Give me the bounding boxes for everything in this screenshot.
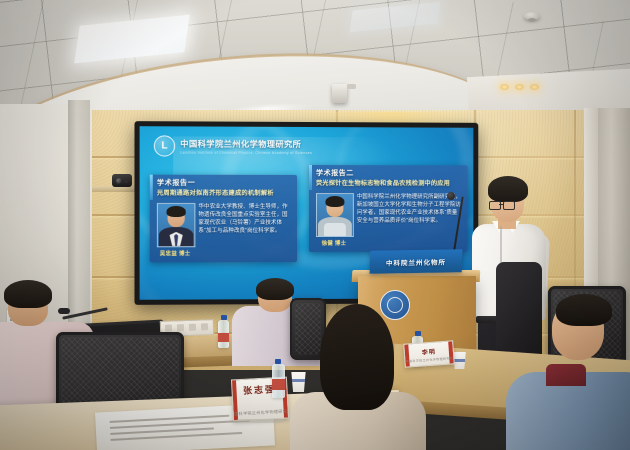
report-2-bio: 中国科学院兰州化学物理研究所副研究员，新加坡国立大学化学和生物分子工程学院访问学… [357, 193, 462, 247]
bottle-label [218, 333, 229, 342]
report-2-speaker-name: 徐健 博士 [316, 239, 352, 247]
report-1-header: 学术报告一 光周期通路对拟南芥形态建成的机制解析 [150, 175, 297, 200]
institute-name-cn: 中国科学院兰州化学物理研究所 [180, 137, 312, 150]
report-1-bio: 华中农业大学教授、博士生导师，作物遗传改良全国重点实验室主任，国家现代农业（马铃… [198, 203, 291, 257]
smoke-detector-icon [524, 12, 540, 20]
video-camera-icon [112, 174, 132, 187]
eyeglasses-icon [489, 201, 515, 209]
projector-mount [347, 84, 356, 89]
institute-name-en: Lanzhou Institute of Chemical Physics, C… [180, 151, 312, 155]
report-2-header: 学术报告二 荧光探针在生物标志物和食品农残检测中的应用 [309, 165, 467, 190]
podium-sign-text: 中科院兰州化物所 [386, 256, 446, 267]
placard-stand [237, 419, 283, 423]
speaker-hair [488, 176, 528, 202]
downlight-icon [530, 84, 539, 90]
institute-emblem-icon: L [154, 135, 175, 156]
microphone-icon [447, 192, 455, 200]
report-1-speaker-name: 吴忠益 博士 [157, 249, 194, 257]
report-card-1: 学术报告一 光周期通路对拟南芥形态建成的机制解析 吴忠益 博士 [150, 175, 297, 263]
podium-sign: 中科院兰州化物所 [370, 249, 463, 274]
placard-name: 李明 [422, 347, 437, 357]
downlight-icon [515, 84, 524, 90]
attendee-right [512, 300, 630, 450]
report-card-2: 学术报告二 荧光探针在生物标志物和食品农残检测中的应用 徐健 博士 中国科学院兰… [309, 165, 467, 252]
report-2-portrait [316, 193, 354, 237]
report-2-title: 荧光探针在生物标志物和食品农残检测中的应用 [316, 180, 462, 188]
attendee-woman [302, 306, 410, 450]
report-1-portrait [157, 203, 196, 247]
attendee-collar [546, 364, 586, 386]
bottle-label [272, 379, 285, 390]
water-bottle [218, 320, 229, 348]
report-1-speaker-block: 吴忠益 博士 [157, 203, 194, 257]
bottle-cap [275, 359, 281, 364]
ceiling-projector-icon [332, 84, 347, 103]
water-bottle [272, 364, 285, 398]
placard-subtitle: 中国科学院兰州化学物理研究所 [231, 408, 289, 417]
bottle-cap [415, 331, 421, 336]
report-1-title: 光周期通路对拟南芥形态建成的机制解析 [157, 190, 291, 198]
bottle-cap [221, 315, 227, 320]
report-2-speaker-block: 徐健 博士 [316, 193, 352, 247]
report-2-tag: 学术报告二 [316, 168, 462, 178]
downlight-icon [500, 84, 509, 90]
name-placard: 李明 中国科学院兰州化学物理研究所 [404, 342, 454, 366]
slide-institute-logo: L 中国科学院兰州化学物理研究所 Lanzhou Institute of Ch… [154, 135, 312, 157]
conference-room-photo: L 中国科学院兰州化学物理研究所 Lanzhou Institute of Ch… [0, 0, 630, 450]
report-1-tag: 学术报告一 [157, 178, 291, 188]
placard-subtitle: 中国科学院兰州化学物理研究所 [406, 356, 454, 363]
